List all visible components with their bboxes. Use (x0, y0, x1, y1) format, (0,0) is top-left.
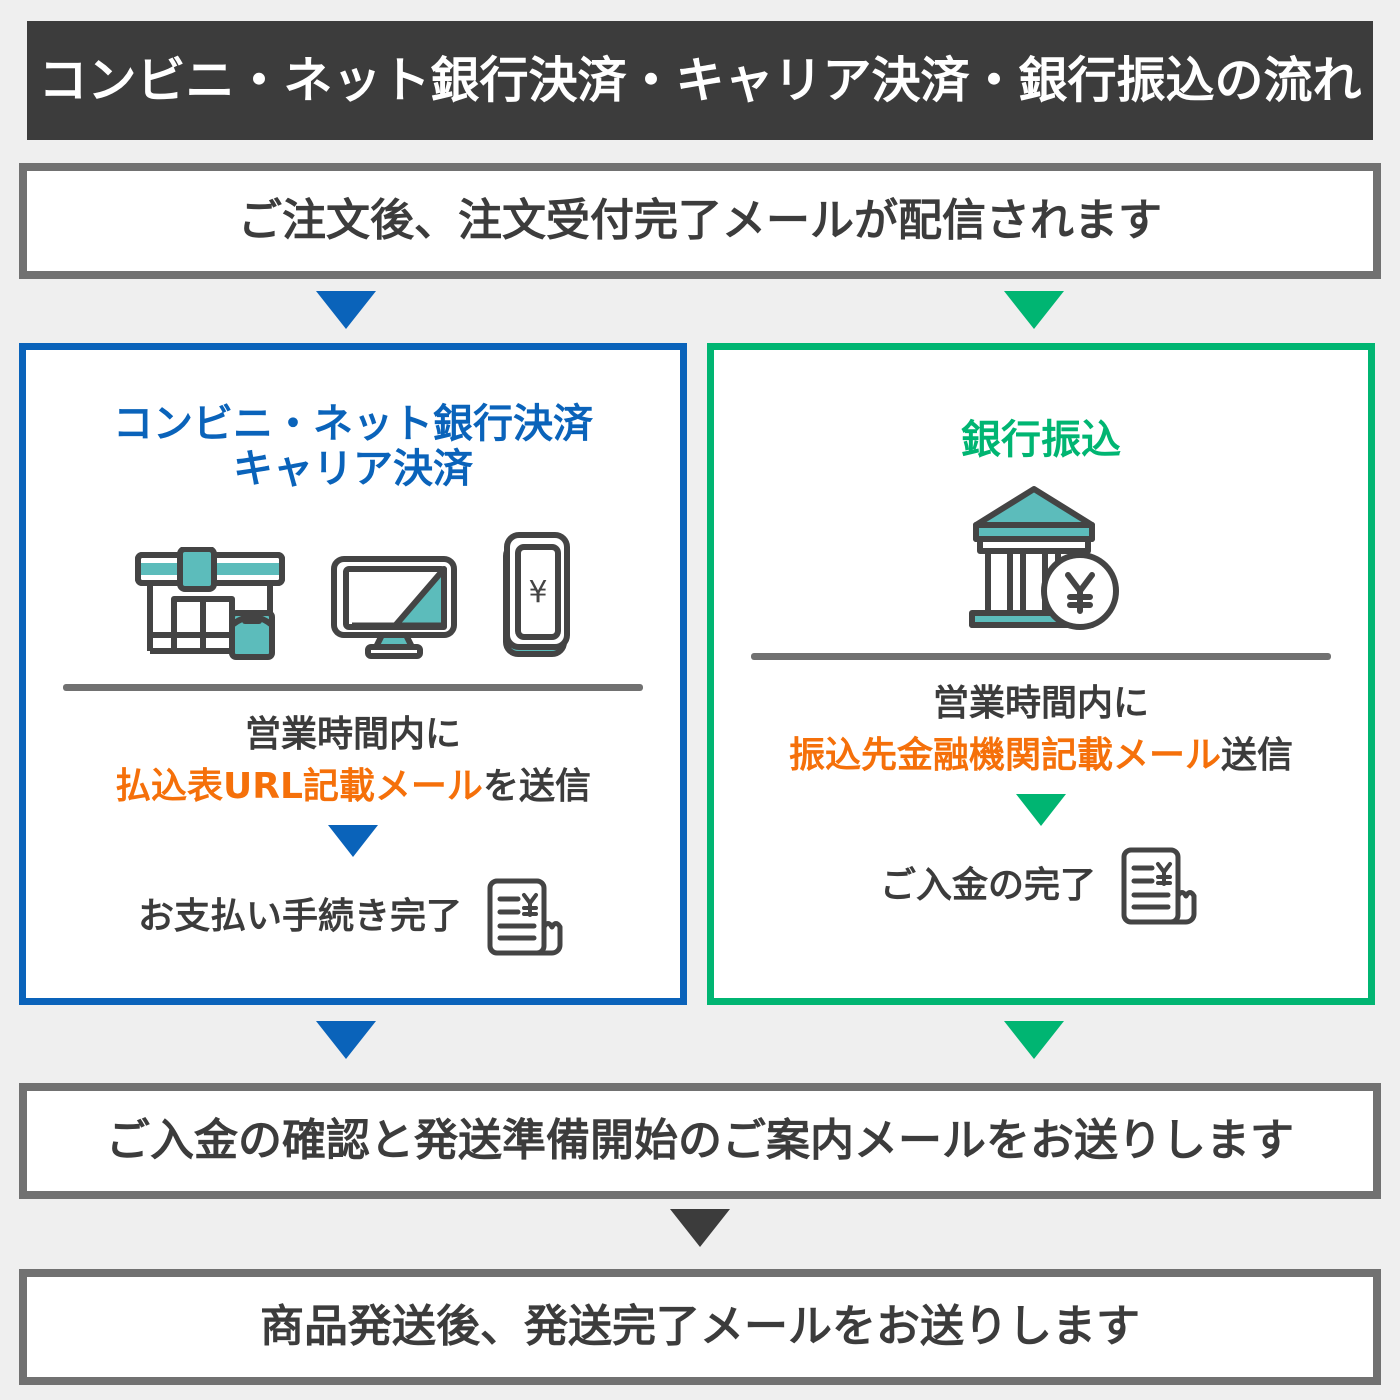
panel-convenience-payment: コンビニ・ネット銀行決済 キャリア決済 (19, 343, 687, 1005)
page-title: コンビニ・ネット銀行決済・キャリア決済・銀行振込の流れ (38, 56, 1361, 105)
convenience-line1: 営業時間内に (245, 717, 461, 753)
arrow-down-green-top (1004, 291, 1064, 329)
step-shipped-label: 商品発送後、発送完了メールをお送りします (260, 1305, 1140, 1349)
convenience-icon-row: ¥ (130, 512, 576, 662)
desktop-monitor-icon (324, 547, 464, 662)
convenience-line2: 払込表URL記載メールを送信 (115, 769, 591, 805)
panel-divider-bank (751, 653, 1331, 660)
bank-line2-highlight: 振込先金融機関記載メール (789, 735, 1221, 776)
arrow-down-blue-inline (328, 825, 378, 857)
panel-convenience-heading: コンビニ・ネット銀行決済 キャリア決済 (113, 402, 593, 492)
svg-text:¥: ¥ (528, 575, 547, 610)
bank-building-yen-coin-icon (956, 481, 1126, 631)
step-order-label: ご注文後、注文受付完了メールが配信されます (238, 199, 1162, 243)
smartphone-yen-icon: ¥ (498, 530, 576, 662)
receipt-yen-icon (476, 871, 568, 963)
arrow-down-blue-bottom (316, 1021, 376, 1059)
step-shipped-box: 商品発送後、発送完了メールをお送りします (19, 1269, 1381, 1385)
receipt-yen-icon (1110, 840, 1202, 932)
step-confirm-label: ご入金の確認と発送準備開始のご案内メールをお送りします (106, 1119, 1294, 1163)
convenience-final-row: お支払い手続き完了 (138, 871, 568, 963)
panel-bank-transfer: 銀行振込 (707, 343, 1375, 1005)
arrow-down-dark (670, 1209, 730, 1247)
bank-icon-row (956, 481, 1126, 631)
bank-final-row: ご入金の完了 (880, 840, 1202, 932)
bank-line2: 振込先金融機関記載メール送信 (789, 738, 1293, 774)
convenience-final-label: お支払い手続き完了 (138, 899, 462, 935)
arrow-down-blue-top (316, 291, 376, 329)
panel-divider-convenience (63, 684, 643, 691)
flow-diagram: コンビニ・ネット銀行決済・キャリア決済・銀行振込の流れ ご注文後、注文受付完了メ… (0, 0, 1400, 1400)
step-confirm-box: ご入金の確認と発送準備開始のご案内メールをお送りします (19, 1083, 1381, 1199)
header-bar: コンビニ・ネット銀行決済・キャリア決済・銀行振込の流れ (27, 21, 1373, 140)
bank-line2-tail: 送信 (1221, 735, 1293, 776)
step-order-box: ご注文後、注文受付完了メールが配信されます (19, 163, 1381, 279)
panel-bank-heading: 銀行振込 (961, 418, 1121, 463)
convenience-line2-highlight: 払込表URL記載メール (115, 766, 483, 807)
arrow-down-green-bottom (1004, 1021, 1064, 1059)
bank-final-label: ご入金の完了 (880, 868, 1096, 904)
convenience-line2-tail: を送信 (483, 766, 591, 807)
arrow-down-green-inline (1016, 794, 1066, 826)
bank-line1: 営業時間内に (933, 686, 1149, 722)
convenience-store-icon (130, 547, 290, 662)
